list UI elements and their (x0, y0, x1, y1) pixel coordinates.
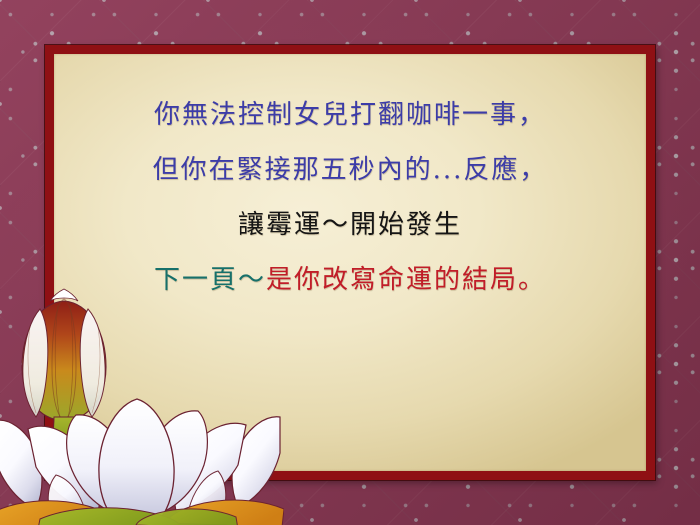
quote-line-4: 下一頁～是你改寫命運的結局。 (54, 267, 646, 293)
quote-line-4-segment-red: 是你改寫命運的結局。 (266, 265, 546, 295)
quote-line-3: 讓霉運～開始發生 (54, 212, 646, 238)
card-frame-border: 你無法控制女兒打翻咖啡一事， 但你在緊接那五秒內的...反應， 讓霉運～開始發生… (45, 45, 655, 480)
quote-line-1: 你無法控制女兒打翻咖啡一事， (54, 102, 646, 128)
slide-canvas: 你無法控制女兒打翻咖啡一事， 但你在緊接那五秒內的...反應， 讓霉運～開始發生… (0, 0, 700, 525)
card-body: 你無法控制女兒打翻咖啡一事， 但你在緊接那五秒內的...反應， 讓霉運～開始發生… (54, 54, 646, 471)
quote-text-block: 你無法控制女兒打翻咖啡一事， 但你在緊接那五秒內的...反應， 讓霉運～開始發生… (54, 102, 646, 322)
quote-line-2: 但你在緊接那五秒內的...反應， (54, 157, 646, 183)
quote-line-4-segment-teal: 下一頁～ (154, 265, 266, 295)
